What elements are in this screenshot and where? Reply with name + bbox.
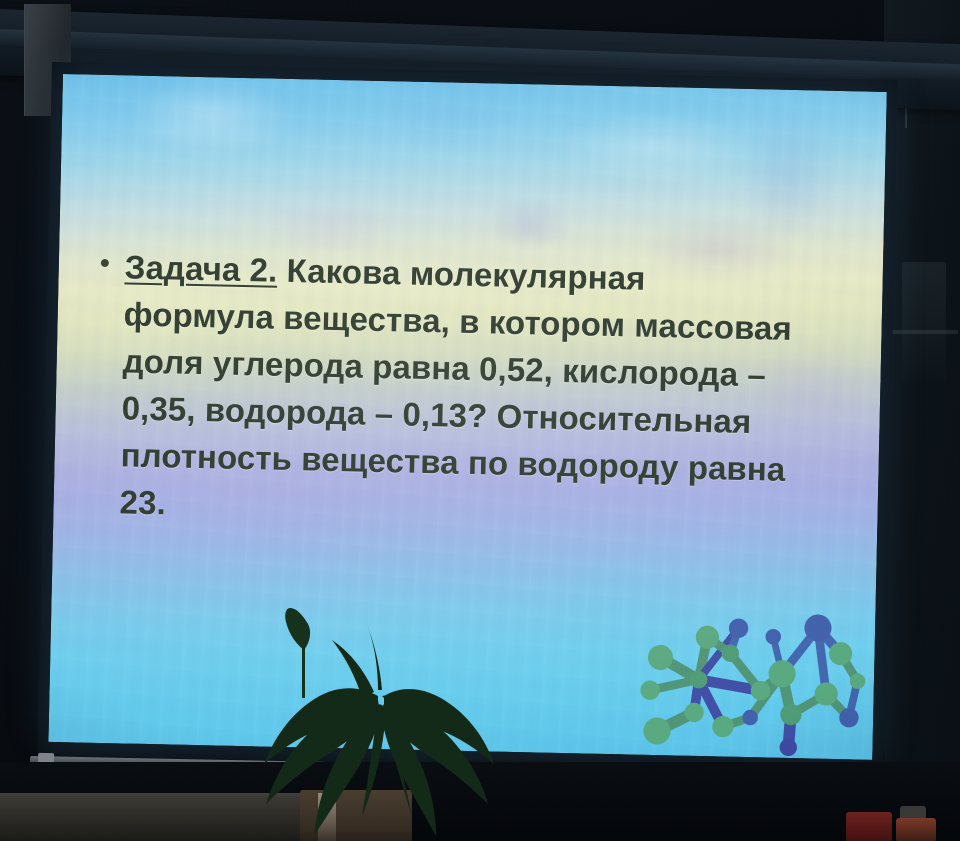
foreground-object-red-a — [846, 812, 892, 841]
foreground-object-red-b — [896, 818, 936, 841]
classroom-photo: Screen — [0, 0, 960, 841]
potted-plant-silhouette — [228, 600, 528, 840]
wall-object-upper — [902, 262, 946, 380]
wall-shelf-edge — [888, 330, 958, 334]
